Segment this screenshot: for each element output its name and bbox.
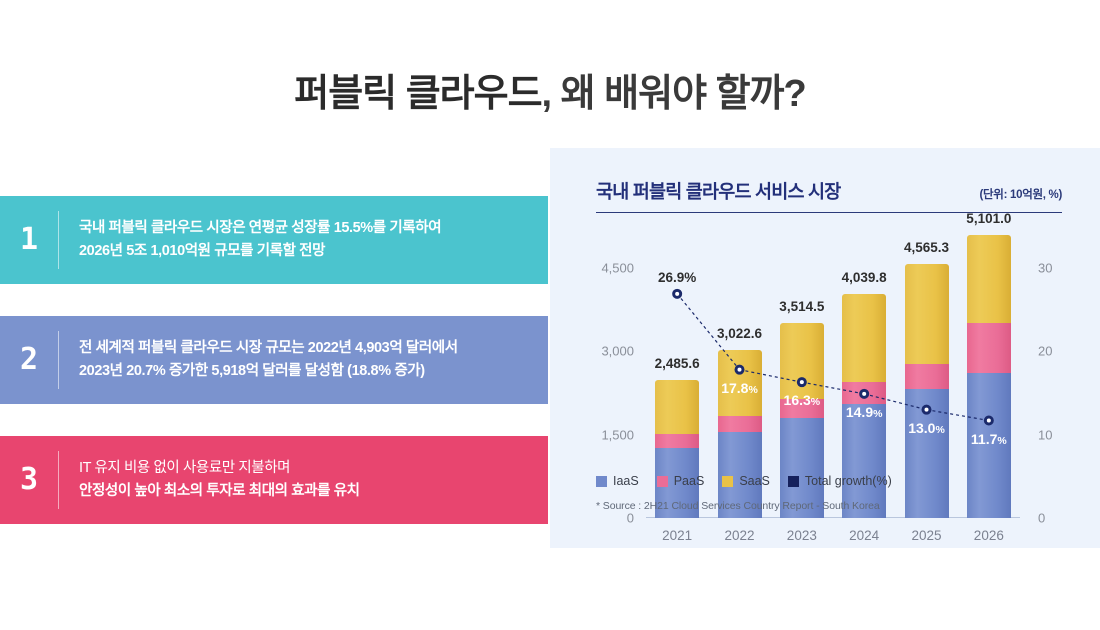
bar-segment-saas <box>780 323 824 400</box>
key-point-3-line2: 안정성이 높아 최소의 투자로 최대의 효과를 유치 <box>79 480 360 503</box>
bar-segment-iaas <box>905 389 949 518</box>
x-axis-label: 2026 <box>974 528 1004 543</box>
legend-item-iaas[interactable]: IaaS <box>596 474 639 488</box>
growth-percent-sign: % <box>748 384 757 396</box>
page-title-highlight: 퍼블릭 클라우드 <box>294 73 541 115</box>
growth-value-number: 13.0 <box>908 420 935 436</box>
x-axis-label: 2021 <box>662 528 692 543</box>
growth-value-number: 14.9 <box>846 404 873 420</box>
growth-value-label: 11.7% <box>971 431 1007 447</box>
growth-value-label: 14.9% <box>846 404 883 420</box>
key-point-3: 3 IT 유지 비용 없이 사용료만 지불하며 안정성이 높아 최소의 투자로 … <box>0 436 548 524</box>
key-point-1: 1 국내 퍼블릭 클라우드 시장은 연평균 성장률 15.5%를 기록하여 20… <box>0 196 548 284</box>
key-point-1-number: 1 <box>0 225 58 255</box>
bar-group: 4,565.32025 <box>905 264 949 518</box>
bar-group: 5,101.02026 <box>967 235 1011 518</box>
bar-segment-paas <box>967 323 1011 373</box>
legend-item-paas[interactable]: PaaS <box>657 474 705 488</box>
x-axis-label: 2024 <box>849 528 879 543</box>
legend-swatch-icon <box>596 476 607 487</box>
bar-segment-paas <box>842 382 886 404</box>
page-title-rest: , 왜 배워야 할까? <box>542 73 806 115</box>
key-point-1-text: 국내 퍼블릭 클라우드 시장은 연평균 성장률 15.5%를 기록하여 2026… <box>59 217 441 264</box>
bar-segment-saas <box>655 380 699 434</box>
bar-total-label: 4,565.3 <box>904 240 949 255</box>
x-axis-label: 2023 <box>787 528 817 543</box>
bar-total-label: 3,022.6 <box>717 326 762 341</box>
bar-stack[interactable] <box>905 264 949 518</box>
bar-stack[interactable] <box>718 350 762 518</box>
y-axis-left-tick: 1,500 <box>601 427 634 442</box>
legend-label: SaaS <box>739 474 770 488</box>
bar-segment-paas <box>655 434 699 448</box>
growth-value-label: 26.9% <box>658 270 696 285</box>
growth-percent-sign: % <box>997 435 1006 447</box>
key-point-3-text: IT 유지 비용 없이 사용료만 지불하며 안정성이 높아 최소의 투자로 최대… <box>59 457 360 504</box>
key-point-2-text: 전 세계적 퍼블릭 클라우드 시장 규모는 2022년 4,903억 달러에서 … <box>59 337 458 384</box>
growth-value-number: 17.8 <box>721 380 748 396</box>
key-point-2: 2 전 세계적 퍼블릭 클라우드 시장 규모는 2022년 4,903억 달러에… <box>0 316 548 404</box>
bar-total-label: 3,514.5 <box>779 299 824 314</box>
bar-group: 2,485.62021 <box>655 380 699 518</box>
legend-label: Total growth(%) <box>805 474 892 488</box>
bar-stack[interactable] <box>655 380 699 518</box>
y-axis-right-tick: 0 <box>1038 511 1045 526</box>
growth-value-number: 11.7 <box>971 431 997 447</box>
bar-total-label: 2,485.6 <box>655 356 700 371</box>
chart-source-note: * Source : 2H21 Cloud Services Country R… <box>596 500 880 512</box>
growth-percent-sign: % <box>811 396 820 408</box>
chart-title: 국내 퍼블릭 클라우드 서비스 시장 <box>596 178 840 204</box>
legend-label: IaaS <box>613 474 639 488</box>
legend-item-saas[interactable]: SaaS <box>722 474 770 488</box>
bar-segment-saas <box>967 235 1011 324</box>
bar-group: 3,022.62022 <box>718 350 762 518</box>
y-axis-right-tick: 20 <box>1038 344 1052 359</box>
y-axis-right-tick: 10 <box>1038 427 1052 442</box>
legend-swatch-icon <box>722 476 733 487</box>
bar-total-label: 4,039.8 <box>842 270 887 285</box>
bar-stack[interactable] <box>967 235 1011 518</box>
chart-unit-label: (단위: 10억원, %) <box>979 186 1062 204</box>
key-point-2-line2: 2023년 20.7% 증가한 5,918억 달러를 달성함 (18.8% 증가… <box>79 360 458 383</box>
legend-item-total-growth[interactable]: Total growth(%) <box>788 474 892 488</box>
bar-segment-paas <box>905 364 949 389</box>
growth-value-label: 16.3% <box>784 392 821 408</box>
bar-segment-paas <box>718 416 762 432</box>
key-point-3-line1: IT 유지 비용 없이 사용료만 지불하며 <box>79 457 360 480</box>
key-point-1-line2: 2026년 5조 1,010억원 규모를 기록할 전망 <box>79 240 441 263</box>
key-point-2-number: 2 <box>0 345 58 375</box>
page-title: 퍼블릭 클라우드, 왜 배워야 할까? <box>0 62 1100 117</box>
growth-percent-sign: % <box>935 424 944 436</box>
y-axis-left-tick: 4,500 <box>601 261 634 276</box>
y-axis-left-tick: 3,000 <box>601 344 634 359</box>
key-point-1-line1: 국내 퍼블릭 클라우드 시장은 연평균 성장률 15.5%를 기록하여 <box>79 217 441 240</box>
growth-value-number: 16.3 <box>784 392 811 408</box>
bar-stack[interactable] <box>780 323 824 518</box>
growth-percent-sign: % <box>873 408 882 420</box>
bar-segment-saas <box>842 294 886 382</box>
growth-value-label: 17.8% <box>721 380 758 396</box>
chart-header: 국내 퍼블릭 클라우드 서비스 시장 (단위: 10억원, %) <box>596 178 1062 213</box>
key-point-3-number: 3 <box>0 465 58 495</box>
bar-segment-saas <box>905 264 949 363</box>
key-point-2-line1: 전 세계적 퍼블릭 클라우드 시장 규모는 2022년 4,903억 달러에서 <box>79 337 458 360</box>
chart-legend: IaaSPaaSSaaSTotal growth(%) <box>596 474 892 488</box>
bar-total-label: 5,101.0 <box>966 211 1011 226</box>
legend-label: PaaS <box>674 474 705 488</box>
bar-group: 3,514.52023 <box>780 323 824 518</box>
y-axis-left-tick: 0 <box>627 511 634 526</box>
chart-panel: 국내 퍼블릭 클라우드 서비스 시장 (단위: 10억원, %) 01,5003… <box>550 148 1100 548</box>
x-axis-label: 2025 <box>911 528 941 543</box>
growth-value-label: 13.0% <box>908 420 945 436</box>
legend-swatch-icon <box>657 476 668 487</box>
legend-swatch-icon <box>788 476 799 487</box>
key-points-list: 1 국내 퍼블릭 클라우드 시장은 연평균 성장률 15.5%를 기록하여 20… <box>0 196 548 556</box>
x-axis-label: 2022 <box>724 528 754 543</box>
y-axis-right-tick: 30 <box>1038 261 1052 276</box>
